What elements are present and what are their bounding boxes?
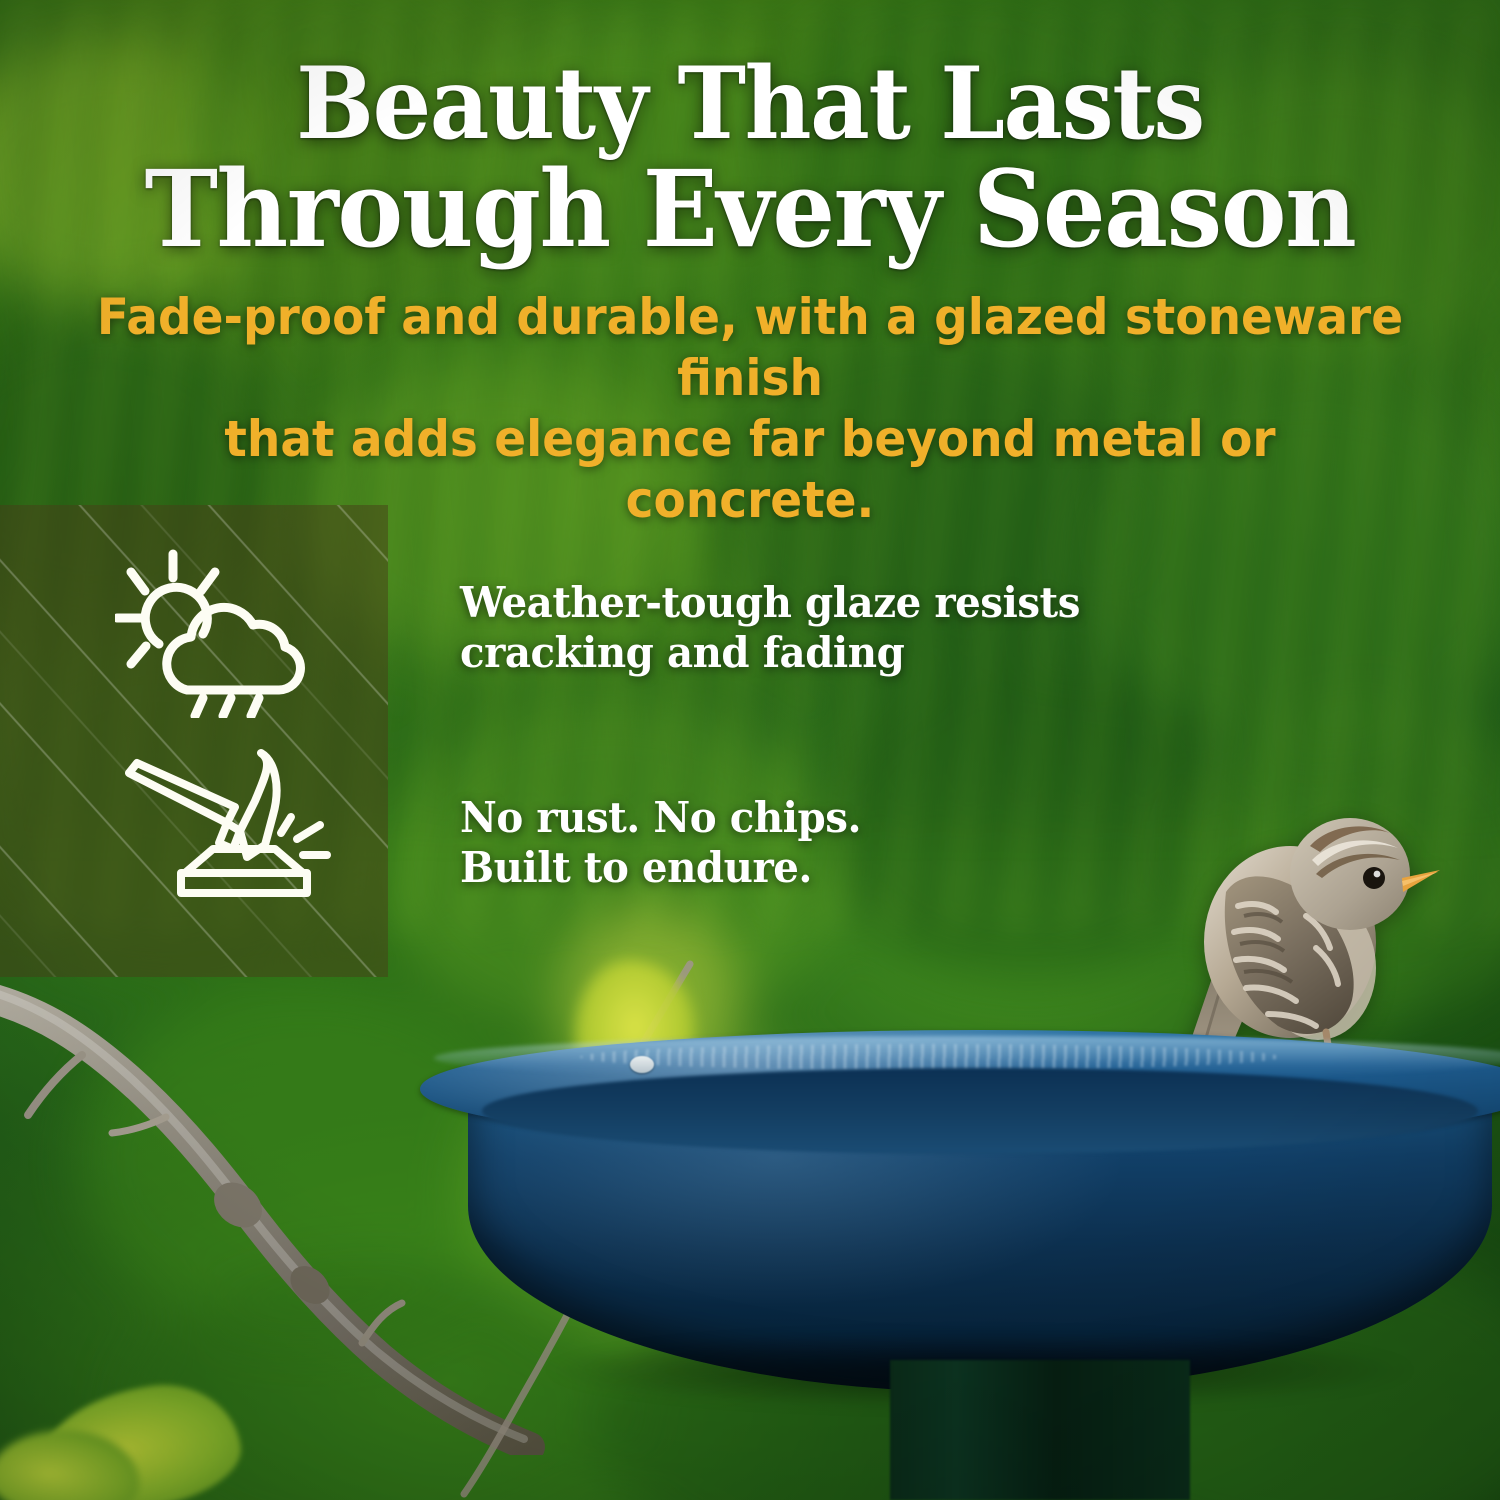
vignette-overlay (0, 0, 1500, 1500)
product-feature-banner: Beauty That Lasts Through Every Season F… (0, 0, 1500, 1500)
